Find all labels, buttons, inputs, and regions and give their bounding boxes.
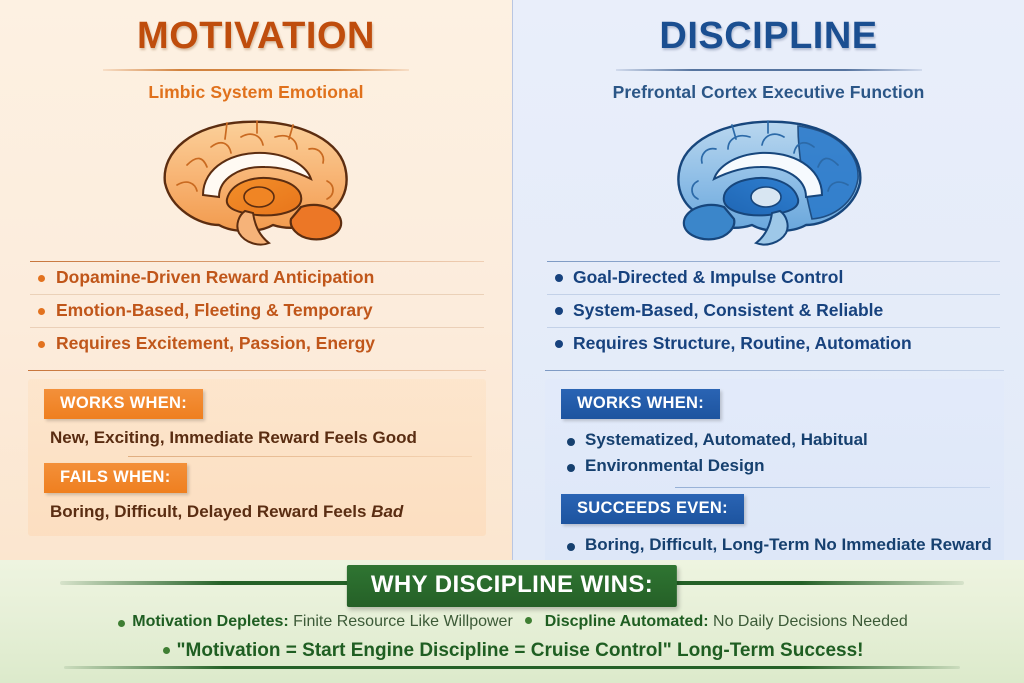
motivation-conditions: WORKS WHEN: New, Exciting, Immediate Rew… xyxy=(28,370,486,536)
conditions-inner-divider xyxy=(675,487,990,488)
discipline-subtitle: Prefrontal Cortex Executive Function xyxy=(513,82,1024,103)
conditions-inner-divider xyxy=(128,456,472,457)
footer-bottom-rule xyxy=(64,666,960,670)
infographic-poster: MOTIVATION Limbic System Emotional xyxy=(0,0,1024,683)
status-badge-fails-when: FAILS WHEN: xyxy=(44,463,187,493)
fails-when-row: FAILS WHEN: xyxy=(44,463,486,493)
comparison-columns: MOTIVATION Limbic System Emotional xyxy=(0,0,1024,560)
brain-blue-icon xyxy=(654,109,884,249)
title-divider xyxy=(616,69,922,71)
motivation-bullet-section: Dopamine-Driven Reward Anticipation Emot… xyxy=(30,261,484,361)
status-badge-works-when: WORKS WHEN: xyxy=(44,389,203,419)
motivation-bullet-list: Dopamine-Driven Reward Anticipation Emot… xyxy=(30,262,484,360)
list-item: Environmental Design xyxy=(545,453,1004,479)
conditions-divider xyxy=(28,370,486,371)
footer-point-2-label: Discpline Automated: xyxy=(545,613,709,630)
title-divider xyxy=(103,69,409,71)
discipline-panel: DISCIPLINE Prefrontal Cortex Executive F… xyxy=(512,0,1024,560)
why-discipline-wins-footer: WHY DISCIPLINE WINS: Motivation Depletes… xyxy=(0,560,1024,683)
fails-when-text-main: Boring, Difficult, Delayed Reward Feels xyxy=(50,502,371,521)
works-when-row: WORKS WHEN: xyxy=(44,389,486,419)
footer-point-1-text: Finite Resource Like Willpower xyxy=(289,613,513,630)
works-when-text: New, Exciting, Immediate Reward Feels Go… xyxy=(50,428,486,448)
list-item: Dopamine-Driven Reward Anticipation xyxy=(30,262,484,295)
discipline-conditions-box: WORKS WHEN: Systematized, Automated, Hab… xyxy=(545,379,1004,568)
footer-bullet-dot xyxy=(525,617,532,624)
list-item: Systematized, Automated, Habitual xyxy=(545,427,1004,453)
discipline-header: DISCIPLINE Prefrontal Cortex Executive F… xyxy=(513,0,1024,103)
motivation-header: MOTIVATION Limbic System Emotional xyxy=(0,0,512,103)
discipline-bullet-list: Goal-Directed & Impulse Control System-B… xyxy=(547,262,1000,360)
discipline-bullet-section: Goal-Directed & Impulse Control System-B… xyxy=(547,261,1000,361)
footer-line-1: Motivation Depletes: Finite Resource Lik… xyxy=(0,613,1024,631)
footer-point-2-text: No Daily Decisions Needed xyxy=(709,613,908,630)
status-badge-works-when: WORKS WHEN: xyxy=(561,389,720,419)
works-when-row: WORKS WHEN: xyxy=(561,389,1004,419)
footer-point-1: Motivation Depletes: Finite Resource Lik… xyxy=(116,613,513,630)
succeeds-even-row: SUCCEEDS EVEN: xyxy=(561,494,1004,524)
status-badge-why-discipline-wins: WHY DISCIPLINE WINS: xyxy=(347,565,677,607)
list-item: System-Based, Consistent & Reliable xyxy=(547,295,1000,328)
list-item: Requires Excitement, Passion, Energy xyxy=(30,328,484,360)
succeeds-even-list: Boring, Difficult, Long-Term No Immediat… xyxy=(545,532,1004,558)
brain-blue-illustration xyxy=(513,109,1024,249)
motivation-conditions-box: WORKS WHEN: New, Exciting, Immediate Rew… xyxy=(28,379,486,536)
footer-point-3: "Motivation = Start Engine Discipline = … xyxy=(161,640,864,661)
list-item: Boring, Difficult, Long-Term No Immediat… xyxy=(545,532,1004,558)
motivation-panel: MOTIVATION Limbic System Emotional xyxy=(0,0,512,560)
works-when-list: Systematized, Automated, Habitual Enviro… xyxy=(545,427,1004,479)
page-title-discipline: DISCIPLINE xyxy=(513,17,1024,55)
footer-line-2: "Motivation = Start Engine Discipline = … xyxy=(0,640,1024,662)
fails-when-text: Boring, Difficult, Delayed Reward Feels … xyxy=(50,502,486,522)
brain-orange-illustration xyxy=(0,109,512,249)
footer-point-1-label: Motivation Depletes: xyxy=(132,613,288,630)
brain-orange-icon xyxy=(141,109,371,249)
status-badge-succeeds-even: SUCCEEDS EVEN: xyxy=(561,494,744,524)
footer-point-2: Discpline Automated: No Daily Decisions … xyxy=(545,613,908,630)
discipline-conditions: WORKS WHEN: Systematized, Automated, Hab… xyxy=(545,370,1004,568)
conditions-divider xyxy=(545,370,1004,371)
fails-when-text-emphasis: Bad xyxy=(371,502,403,521)
list-item: Requires Structure, Routine, Automation xyxy=(547,328,1000,360)
page-title-motivation: MOTIVATION xyxy=(0,17,512,55)
list-item: Goal-Directed & Impulse Control xyxy=(547,262,1000,295)
motivation-subtitle: Limbic System Emotional xyxy=(0,82,512,103)
list-item: Emotion-Based, Fleeting & Temporary xyxy=(30,295,484,328)
